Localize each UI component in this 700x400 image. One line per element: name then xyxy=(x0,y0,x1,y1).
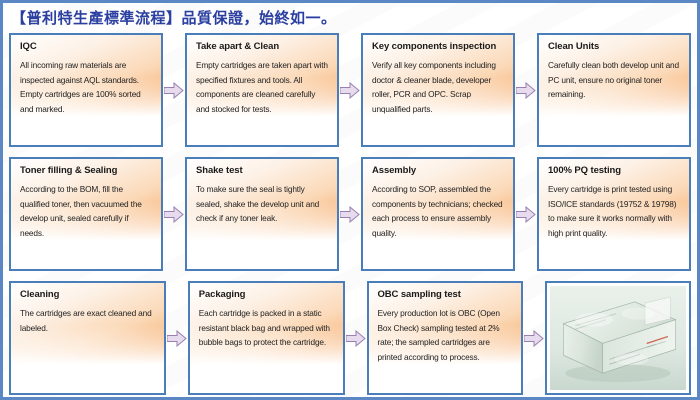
arrow-connector-5 xyxy=(339,157,361,271)
step-card-iqc[interactable]: IQC All incoming raw materials are inspe… xyxy=(9,33,163,147)
step-card-take-apart-clean[interactable]: Take apart & Clean Empty cartridges are … xyxy=(185,33,339,147)
step-body: According to SOP, assembled the componen… xyxy=(372,182,505,241)
page-title: 【普利特生產標準流程】品質保證，始終如一。 xyxy=(3,3,697,33)
step-body: To make sure the seal is tightly sealed,… xyxy=(196,182,329,226)
process-row-3: Cleaning The cartridges are exact cleane… xyxy=(9,281,691,395)
step-body: Verify all key components including doct… xyxy=(372,58,505,117)
arrow-right-icon xyxy=(524,330,544,347)
step-title: 100% PQ testing xyxy=(548,166,681,177)
arrow-connector-6 xyxy=(515,157,537,271)
step-title: OBC sampling test xyxy=(378,290,514,301)
step-title: Shake test xyxy=(196,166,329,177)
step-title: Toner filling & Sealing xyxy=(20,166,153,177)
step-title: Cleaning xyxy=(20,290,156,301)
step-title: Assembly xyxy=(372,166,505,177)
step-body: The cartridges are exact cleaned and lab… xyxy=(20,306,156,336)
step-body: Every cartridge is print tested using IS… xyxy=(548,182,681,241)
step-card-shake-test[interactable]: Shake test To make sure the seal is tigh… xyxy=(185,157,339,271)
arrow-connector-8 xyxy=(345,281,367,395)
process-row-2: Toner filling & Sealing According to the… xyxy=(9,157,691,271)
step-title: Clean Units xyxy=(548,42,681,53)
toner-cartridge-box-image xyxy=(550,286,686,390)
step-title: Packaging xyxy=(199,290,335,301)
arrow-right-icon xyxy=(340,82,360,99)
arrow-connector-7 xyxy=(166,281,188,395)
step-card-toner-filling-sealing[interactable]: Toner filling & Sealing According to the… xyxy=(9,157,163,271)
arrow-connector-3 xyxy=(515,33,537,147)
arrow-connector-9 xyxy=(523,281,545,395)
step-body: According to the BOM, fill the qualified… xyxy=(20,182,153,241)
product-photo xyxy=(550,286,686,390)
flowchart-page: 【普利特生產標準流程】品質保證，始終如一。 IQC All incoming r… xyxy=(0,0,700,400)
step-body: Every production lot is OBC (Open Box Ch… xyxy=(378,306,514,365)
step-card-key-components-inspection[interactable]: Key components inspection Verify all key… xyxy=(361,33,515,147)
arrow-connector-1 xyxy=(163,33,185,147)
step-card-assembly[interactable]: Assembly According to SOP, assembled the… xyxy=(361,157,515,271)
arrow-right-icon xyxy=(516,206,536,223)
arrow-connector-4 xyxy=(163,157,185,271)
arrow-right-icon xyxy=(340,206,360,223)
process-row-1: IQC All incoming raw materials are inspe… xyxy=(9,33,691,147)
step-card-packaging[interactable]: Packaging Each cartridge is packed in a … xyxy=(188,281,345,395)
arrow-right-icon xyxy=(516,82,536,99)
process-grid: IQC All incoming raw materials are inspe… xyxy=(3,33,697,395)
arrow-right-icon xyxy=(164,206,184,223)
arrow-right-icon xyxy=(164,82,184,99)
step-body: All incoming raw materials are inspected… xyxy=(20,58,153,117)
step-title: IQC xyxy=(20,42,153,53)
step-body: Carefully clean both develop unit and PC… xyxy=(548,58,681,102)
step-body: Each cartridge is packed in a static res… xyxy=(199,306,335,350)
product-photo-card xyxy=(545,281,691,395)
step-card-cleaning[interactable]: Cleaning The cartridges are exact cleane… xyxy=(9,281,166,395)
arrow-right-icon xyxy=(346,330,366,347)
step-title: Key components inspection xyxy=(372,42,505,53)
step-card-clean-units[interactable]: Clean Units Carefully clean both develop… xyxy=(537,33,691,147)
arrow-connector-2 xyxy=(339,33,361,147)
step-title: Take apart & Clean xyxy=(196,42,329,53)
arrow-right-icon xyxy=(167,330,187,347)
step-card-pq-testing[interactable]: 100% PQ testing Every cartridge is print… xyxy=(537,157,691,271)
step-card-obc-sampling-test[interactable]: OBC sampling test Every production lot i… xyxy=(367,281,524,395)
step-body: Empty cartridges are taken apart with sp… xyxy=(196,58,329,117)
